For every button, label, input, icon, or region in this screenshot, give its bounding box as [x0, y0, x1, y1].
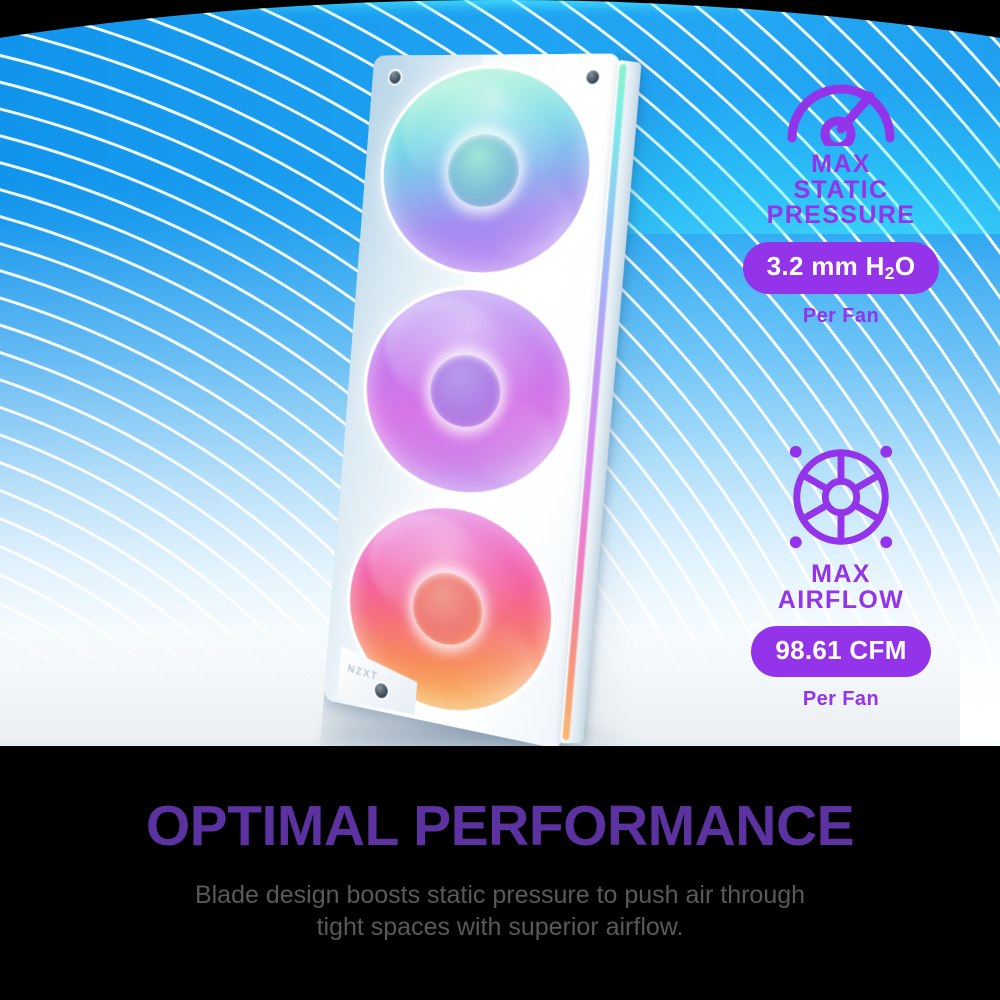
- spec-label: MAX AIRFLOW: [716, 562, 966, 613]
- screw-icon: [389, 71, 401, 84]
- spec-max-airflow: MAX AIRFLOW 98.61 CFM Per Fan: [716, 438, 966, 711]
- spec-sublabel: Per Fan: [716, 688, 966, 711]
- fan-gloss: [476, 175, 575, 261]
- page-title: OPTIMAL PERFORMANCE: [0, 798, 1000, 855]
- footer-band: OPTIMAL PERFORMANCE Blade design boosts …: [0, 746, 1000, 1000]
- fan-blades-icon: [782, 438, 900, 556]
- fan-panel: NZXT: [324, 53, 621, 749]
- screw-icon: [586, 70, 600, 84]
- footer-subcopy-line1: Blade design boosts static pressure to p…: [78, 879, 922, 911]
- spec-label: MAX STATIC PRESSURE: [716, 152, 966, 229]
- pressure-gauge-icon: [782, 72, 900, 146]
- fan-unit-middle: [349, 275, 591, 515]
- fan-gloss: [458, 395, 556, 487]
- product-image: NZXT: [300, 30, 720, 760]
- fan-unit-bottom: NZXT: [332, 487, 571, 740]
- promo-graphic: NZXT MAX STATIC PRESSURE 3.2 mm H2O Per …: [0, 0, 1000, 1000]
- spec-max-static-pressure: MAX STATIC PRESSURE 3.2 mm H2O Per Fan: [716, 72, 966, 328]
- fan-unit-top: [366, 60, 611, 288]
- spec-value-pill: 3.2 mm H2O: [743, 242, 940, 295]
- spec-value-text: 3.2 mm H: [767, 251, 885, 281]
- footer-subcopy-line2: tight spaces with superior airflow.: [78, 911, 922, 943]
- spec-value-pill: 98.61 CFM: [751, 626, 930, 677]
- spec-value-unit-tail: O: [895, 251, 916, 281]
- spec-value-subscript: 2: [885, 262, 895, 282]
- spec-sublabel: Per Fan: [716, 305, 966, 328]
- footer-subcopy: Blade design boosts static pressure to p…: [0, 879, 1000, 943]
